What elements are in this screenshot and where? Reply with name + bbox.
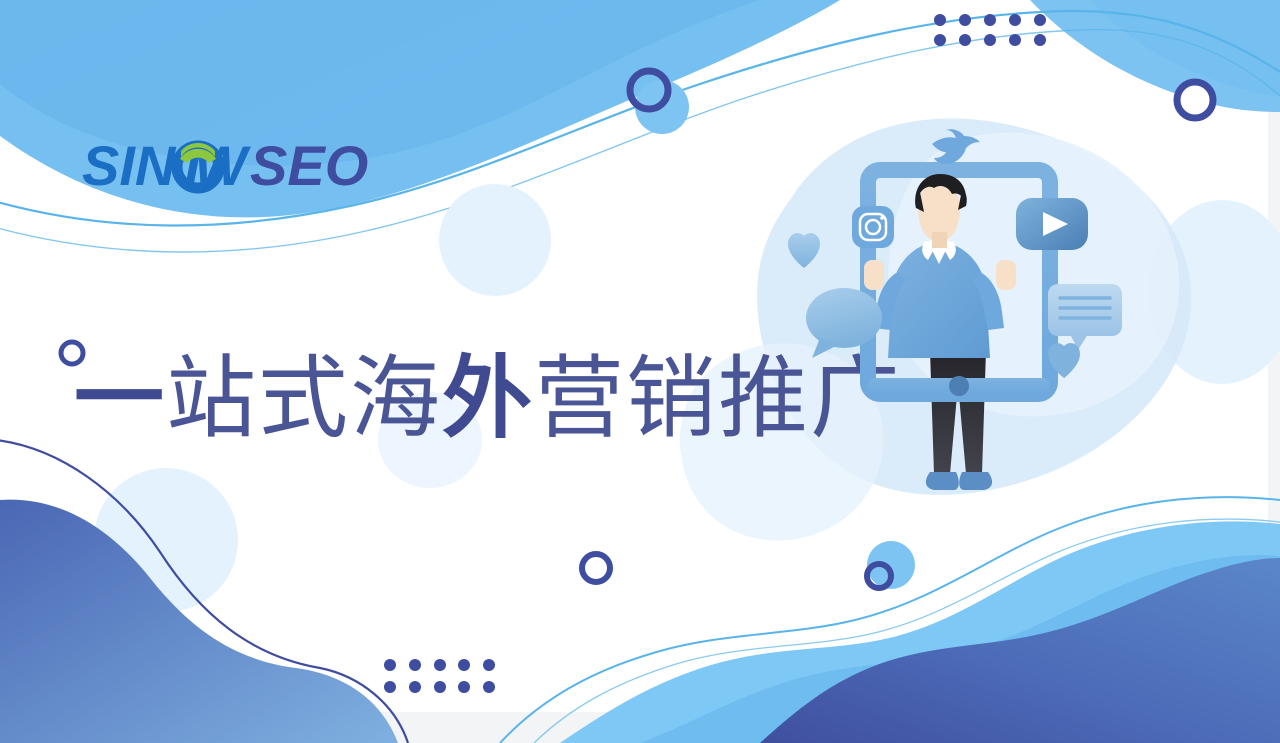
headline-seg-0: 一 (74, 350, 166, 449)
message-box-icon (1048, 284, 1122, 336)
heart-icon-left (788, 233, 820, 268)
logo-text-secondary: SEO (250, 134, 368, 197)
slide-canvas: SINT W SEO SINTOWSEO 一站式海外营销推广 (0, 0, 1280, 743)
ring-bottom-center (582, 554, 610, 582)
ring-top-right (1177, 82, 1213, 118)
instagram-icon (852, 206, 894, 248)
shoe-left-icon (926, 472, 959, 490)
person-legs (930, 350, 986, 474)
circle-pale-mid (439, 184, 551, 296)
dot-grid-top (934, 14, 1046, 46)
dot-grid-bottom (384, 659, 495, 693)
person-hand-left (864, 260, 884, 290)
phone-home-button-front-icon (949, 376, 969, 396)
instagram-dot-icon (880, 216, 884, 220)
headline-seg-1: 站式海 (166, 350, 442, 449)
headline-seg-2: 外 (442, 350, 534, 449)
social-media-person-illustration (748, 122, 1168, 542)
person-neck (932, 232, 947, 248)
person-hand-right (996, 260, 1016, 290)
twitter-bird-icon (932, 129, 980, 164)
chat-bubble-icon (806, 288, 882, 348)
logo-sintowseo[interactable]: SINT W SEO (82, 133, 482, 199)
shoe-right-icon (959, 472, 992, 490)
